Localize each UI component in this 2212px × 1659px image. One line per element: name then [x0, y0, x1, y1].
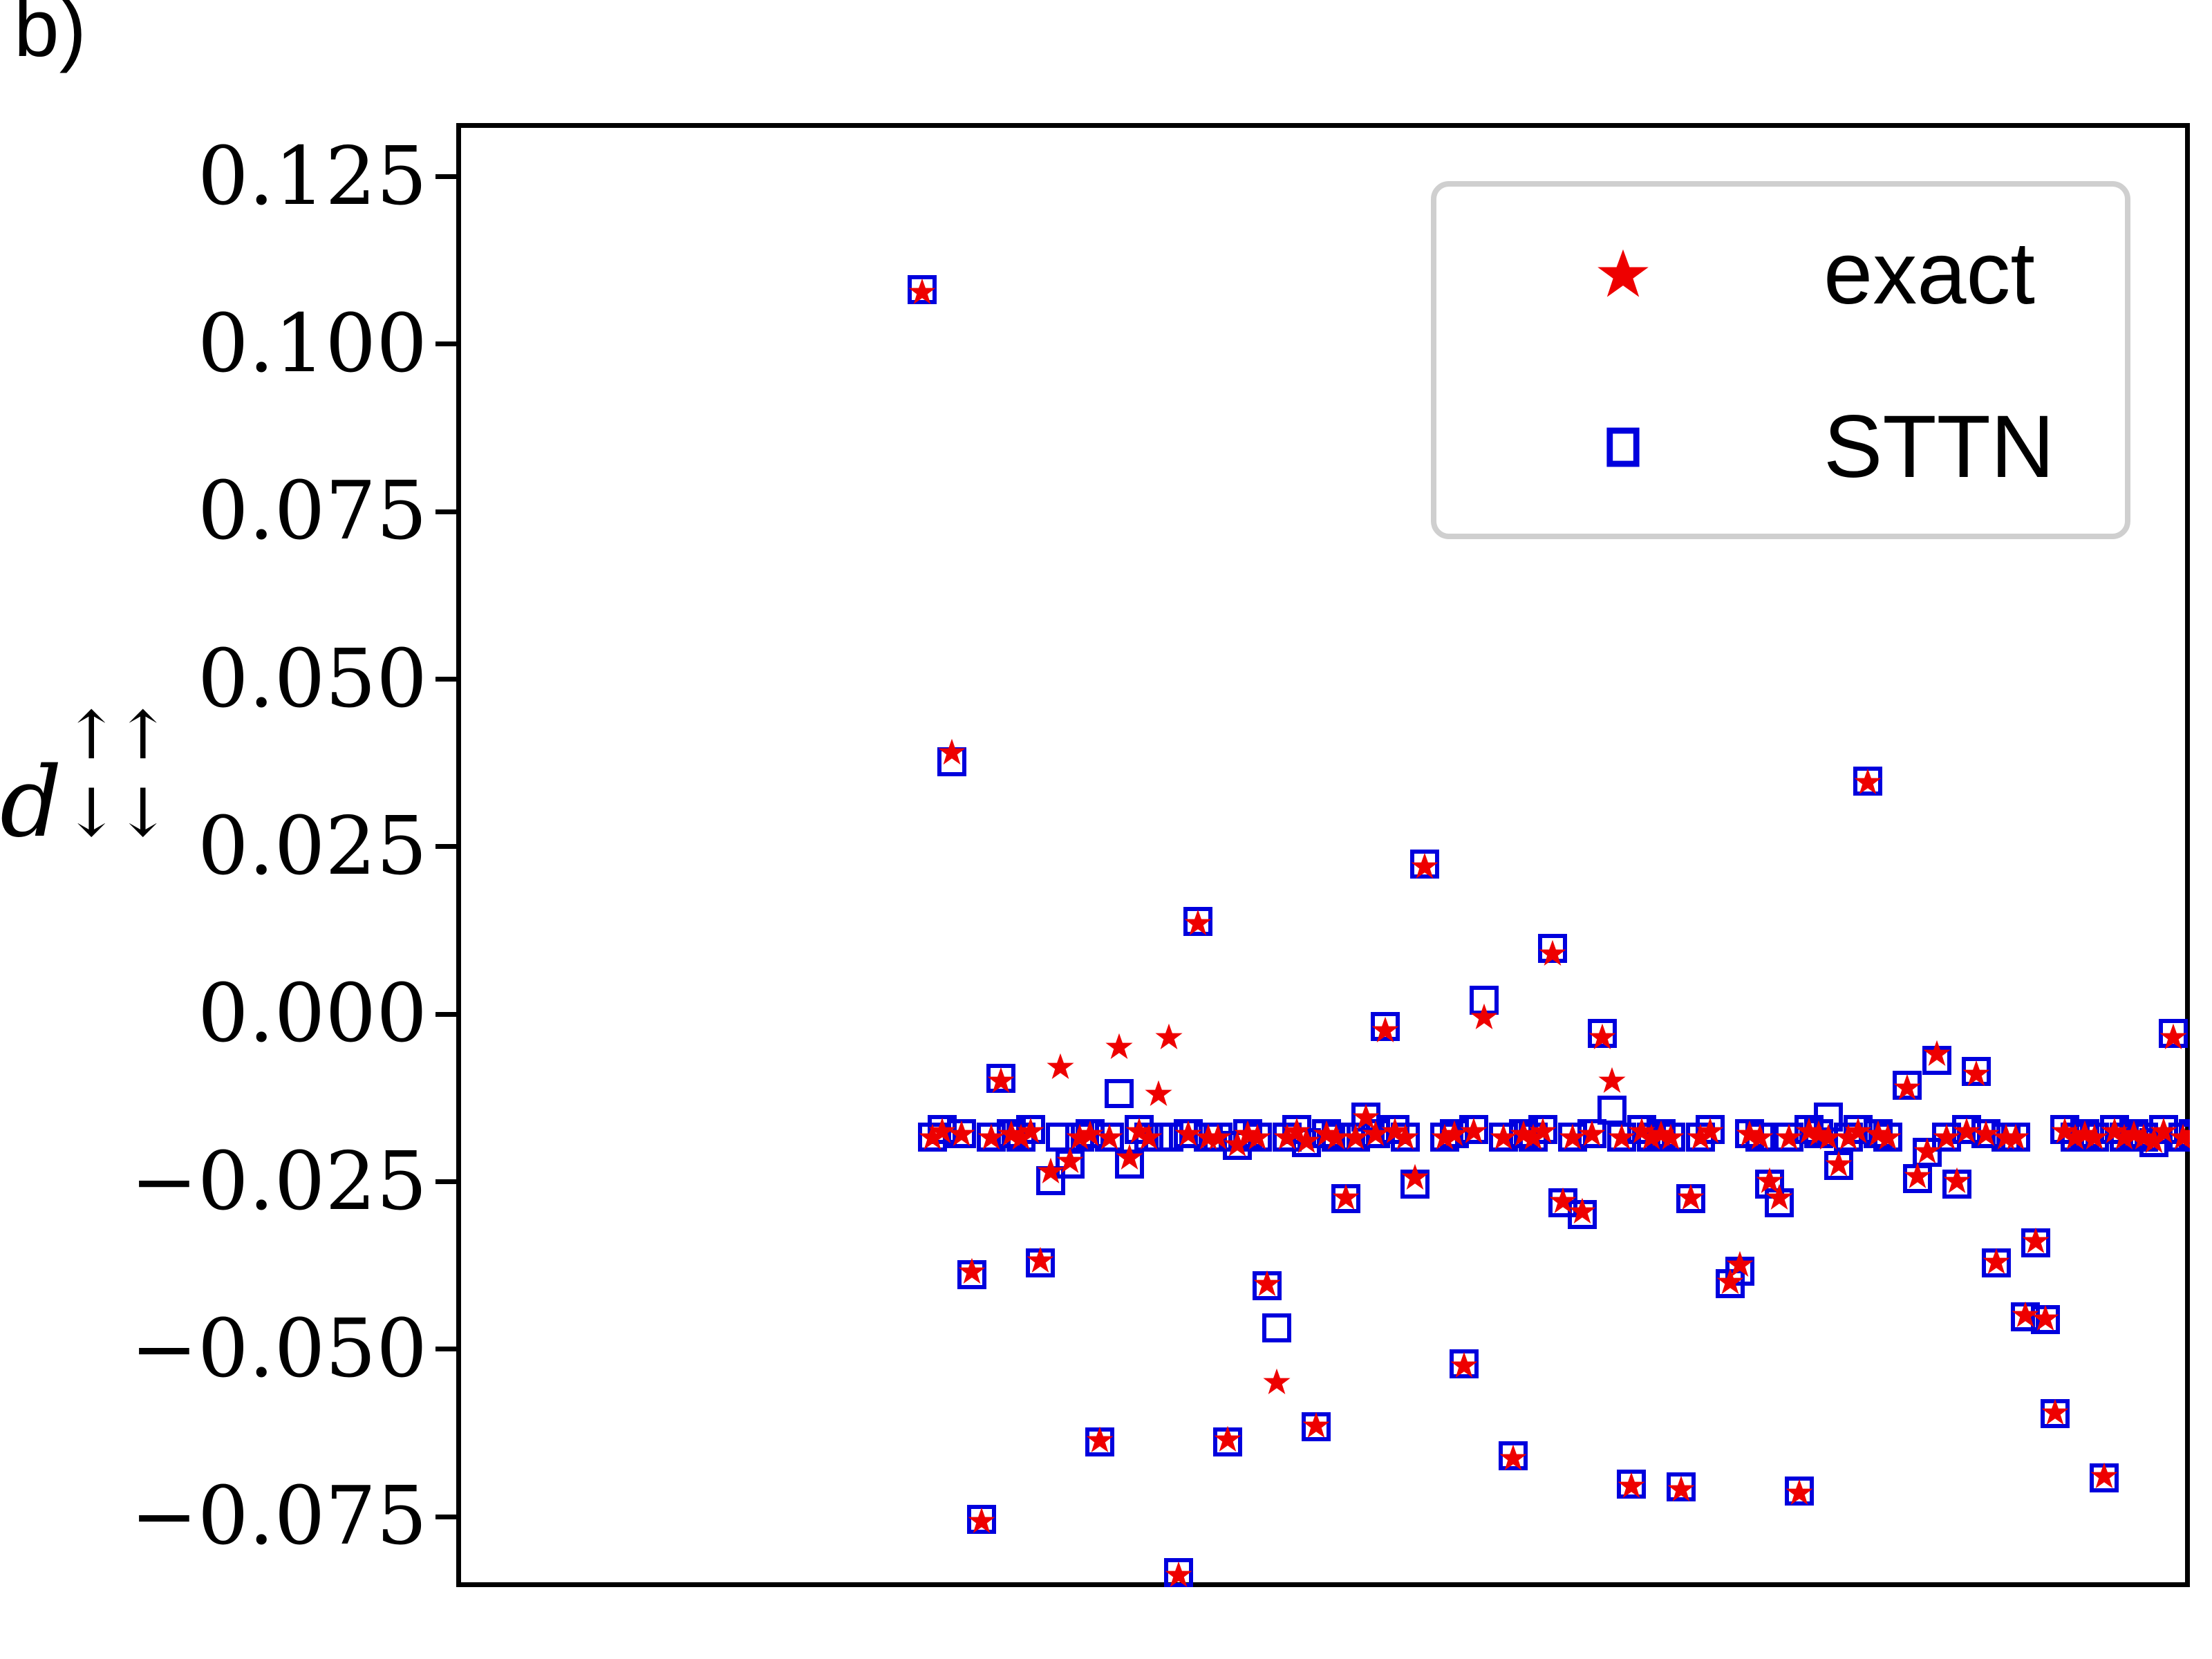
data-point-sttn: [1026, 1248, 1055, 1277]
data-point-sttn: [918, 1123, 947, 1152]
legend-label-sttn: STTN: [1824, 403, 2054, 491]
data-point-sttn: [1588, 1019, 1617, 1048]
data-point-sttn: [1144, 1123, 1173, 1152]
data-point-sttn: [1046, 1123, 1075, 1152]
legend-label-exact: exact: [1824, 229, 2035, 318]
data-point-exact: [1795, 1117, 1823, 1145]
data-point-sttn: [1085, 1427, 1114, 1456]
data-point-sttn: [1134, 1123, 1163, 1152]
data-point-sttn: [1725, 1257, 1754, 1286]
y-axis-label-subscript: ↓↓: [64, 780, 167, 846]
data-point-exact: [1224, 1130, 1251, 1158]
data-point-sttn: [1331, 1184, 1360, 1213]
data-point-exact: [1086, 1426, 1114, 1454]
data-point-sttn: [1903, 1164, 1932, 1193]
data-point-exact: [1499, 1444, 1527, 1472]
data-point-exact: [1588, 1023, 1616, 1051]
data-point-sttn: [1824, 1151, 1853, 1180]
data-point-sttn: [1538, 934, 1567, 963]
y-tick-mark: [435, 1012, 456, 1017]
data-point-sttn: [1962, 1057, 1991, 1086]
figure-panel-b: b) 0.1250.1000.0750.0500.0250.000−0.025−…: [0, 0, 2212, 1659]
data-point-exact: [1864, 1120, 1892, 1147]
data-point-exact: [1923, 1040, 1951, 1067]
data-point-sttn: [2129, 1123, 2158, 1152]
data-point-exact: [1401, 1163, 1429, 1191]
data-point-sttn: [1164, 1558, 1193, 1587]
data-point-sttn: [1922, 1046, 1951, 1075]
data-point-sttn: [1942, 1170, 1971, 1199]
data-point-exact: [1381, 1117, 1409, 1145]
data-point-sttn: [1804, 1119, 1833, 1148]
data-point-sttn: [1361, 1119, 1390, 1148]
data-point-exact: [1844, 1117, 1872, 1145]
data-point-exact: [2130, 1123, 2157, 1151]
data-point-exact: [1253, 1270, 1281, 1297]
data-point-exact: [1431, 1123, 1459, 1151]
data-point-sttn: [1233, 1119, 1262, 1148]
data-point-exact: [1657, 1123, 1685, 1151]
data-point-exact: [968, 1507, 995, 1535]
data-point-exact: [2159, 1023, 2187, 1051]
data-point-exact: [1647, 1120, 1675, 1147]
data-point-exact: [1362, 1120, 1389, 1147]
data-point-exact: [1145, 1080, 1172, 1107]
data-point-exact: [1736, 1120, 1763, 1147]
data-point-sttn: [1745, 1123, 1774, 1152]
data-point-sttn: [937, 747, 966, 776]
data-point-sttn: [1597, 1096, 1627, 1125]
y-tick-label: 0.100: [0, 304, 427, 384]
legend-entry-sttn[interactable]: STTN: [1436, 360, 2125, 534]
data-point-exact: [1904, 1162, 1931, 1190]
data-point-exact: [1293, 1127, 1320, 1154]
data-point-sttn: [1105, 1079, 1134, 1108]
data-point-sttn: [1470, 986, 1499, 1015]
data-point-sttn: [1765, 1188, 1794, 1217]
data-point-exact: [2120, 1120, 2148, 1147]
data-point-exact: [1983, 1248, 2010, 1275]
data-point-exact: [1047, 1053, 1074, 1080]
data-point-exact: [2150, 1117, 2177, 1145]
y-tick-mark: [435, 1347, 456, 1351]
data-point-exact: [1056, 1147, 1084, 1174]
data-point-exact: [1953, 1117, 1980, 1145]
data-point-sttn: [2070, 1119, 2099, 1148]
data-point-sttn: [1341, 1123, 1370, 1152]
y-axis-label-symbol: d: [0, 755, 62, 852]
data-point-sttn: [1380, 1115, 1409, 1144]
data-point-exact: [2180, 1120, 2191, 1147]
data-point-sttn: [1873, 1123, 1902, 1152]
data-point-exact: [987, 1067, 1015, 1094]
data-point-exact: [1155, 1023, 1183, 1051]
data-point-sttn: [1253, 1271, 1282, 1300]
data-point-exact: [1529, 1117, 1557, 1145]
data-point-sttn: [1273, 1123, 1302, 1152]
data-point-exact: [1992, 1123, 2020, 1151]
data-point-exact: [1490, 1123, 1517, 1151]
data-point-exact: [1096, 1123, 1123, 1151]
data-point-sttn: [986, 1064, 1015, 1093]
data-point-exact: [1628, 1117, 1656, 1145]
data-point-exact: [1598, 1067, 1626, 1094]
data-point-exact: [908, 278, 936, 306]
data-point-sttn: [1932, 1123, 1961, 1152]
data-point-exact: [1411, 852, 1438, 880]
y-tick-mark: [435, 509, 456, 514]
data-point-sttn: [1617, 1470, 1646, 1499]
data-point-sttn: [1834, 1123, 1863, 1152]
data-point-sttn: [1430, 1123, 1459, 1152]
data-point-sttn: [1853, 767, 1882, 796]
data-point-sttn: [1391, 1123, 1420, 1152]
data-point-sttn: [1351, 1103, 1380, 1132]
data-point-exact: [1244, 1123, 1271, 1151]
data-point-exact: [1283, 1117, 1311, 1145]
data-point-exact: [1204, 1123, 1232, 1151]
data-point-sttn: [1558, 1123, 1587, 1152]
data-point-exact: [919, 1123, 946, 1151]
data-point-sttn: [1844, 1115, 1873, 1144]
data-point-sttn: [2139, 1128, 2168, 1157]
star-icon: [1595, 246, 1651, 301]
data-point-sttn: [1893, 1071, 1922, 1100]
data-point-exact: [1076, 1120, 1104, 1147]
data-point-sttn: [1450, 1349, 1479, 1378]
data-point-sttn: [1174, 1119, 1203, 1148]
data-point-exact: [1066, 1123, 1094, 1151]
data-point-sttn: [1577, 1119, 1606, 1148]
y-tick-label: −0.050: [0, 1309, 427, 1389]
data-point-sttn: [1154, 1123, 1183, 1152]
legend: exact STTN: [1431, 181, 2130, 539]
data-point-exact: [1677, 1183, 1705, 1211]
data-point-exact: [2061, 1123, 2089, 1151]
y-tick-mark: [435, 341, 456, 346]
data-point-exact: [958, 1257, 986, 1285]
data-point-exact: [1441, 1120, 1468, 1147]
data-point-exact: [1116, 1143, 1143, 1171]
data-point-sttn: [2061, 1123, 2090, 1152]
data-point-sttn: [1292, 1128, 1321, 1157]
data-point-sttn: [1262, 1313, 1291, 1342]
data-point-sttn: [967, 1505, 996, 1534]
data-point-exact: [1165, 1561, 1192, 1587]
data-point-sttn: [2090, 1463, 2119, 1492]
data-point-sttn: [1794, 1115, 1824, 1144]
data-point-sttn: [1223, 1131, 1252, 1160]
y-axis-label-superscript: ↑↑: [64, 702, 167, 769]
data-point-exact: [1332, 1183, 1360, 1211]
data-point-sttn: [1971, 1119, 2000, 1148]
data-point-exact: [1391, 1123, 1419, 1151]
y-tick-label: −0.075: [0, 1477, 427, 1557]
data-point-sttn: [1183, 907, 1212, 936]
square-icon: [1595, 420, 1651, 475]
data-point-exact: [1578, 1120, 1606, 1147]
data-point-sttn: [1400, 1170, 1430, 1199]
data-point-sttn: [1607, 1123, 1636, 1152]
data-point-sttn: [2100, 1115, 2129, 1144]
y-tick-mark: [435, 677, 456, 682]
data-point-sttn: [1065, 1123, 1094, 1152]
y-tick-label: −0.025: [0, 1142, 427, 1222]
data-point-exact: [1608, 1123, 1635, 1151]
data-point-sttn: [1913, 1138, 1942, 1167]
data-point-exact: [1972, 1120, 2000, 1147]
data-point-exact: [977, 1123, 1005, 1151]
data-point-sttn: [1991, 1123, 2021, 1152]
data-point-exact: [2090, 1462, 2118, 1490]
data-point-exact: [2189, 1123, 2190, 1151]
data-point-sttn: [1410, 850, 1439, 879]
data-point-exact: [2169, 1123, 2190, 1151]
data-point-exact: [1874, 1123, 1902, 1151]
data-point-exact: [1687, 1123, 1714, 1151]
data-point-sttn: [1774, 1123, 1803, 1152]
data-point-exact: [1746, 1123, 1774, 1151]
data-point-sttn: [1785, 1477, 1814, 1506]
data-point-sttn: [1548, 1188, 1577, 1217]
data-point-sttn: [1440, 1119, 1469, 1148]
data-point-sttn: [2021, 1228, 2050, 1257]
data-point-sttn: [1016, 1115, 1045, 1144]
data-point-exact: [1962, 1060, 1990, 1087]
data-point-sttn: [2149, 1115, 2178, 1144]
data-point-exact: [2051, 1117, 2079, 1145]
panel-label: b): [14, 0, 86, 69]
data-point-exact: [1756, 1167, 1783, 1194]
data-point-sttn: [1509, 1119, 1538, 1148]
data-point-exact: [938, 738, 966, 766]
data-point-exact: [2032, 1304, 2059, 1332]
data-point-exact: [1371, 1016, 1399, 1044]
data-point-exact: [1667, 1475, 1695, 1503]
data-point-exact: [1194, 1123, 1222, 1151]
data-point-exact: [1510, 1120, 1537, 1147]
data-point-exact: [2041, 1398, 2069, 1426]
data-point-sttn: [1667, 1472, 1696, 1501]
data-point-exact: [1539, 939, 1566, 967]
data-point-sttn: [1647, 1119, 1676, 1148]
data-point-exact: [1313, 1120, 1340, 1147]
data-point-exact: [1007, 1123, 1035, 1151]
data-point-exact: [1460, 1117, 1488, 1145]
data-point-exact: [1470, 1003, 1498, 1031]
data-point-exact: [1815, 1123, 1842, 1151]
data-point-exact: [1549, 1187, 1577, 1215]
data-point-sttn: [1302, 1412, 1331, 1441]
data-point-sttn: [1519, 1123, 1548, 1152]
data-point-sttn: [1696, 1115, 1725, 1144]
data-point-exact: [1726, 1250, 1754, 1278]
data-point-exact: [1450, 1351, 1478, 1379]
data-point-sttn: [908, 275, 937, 304]
y-tick-label: 0.125: [0, 137, 427, 217]
data-point-exact: [2002, 1123, 2030, 1151]
data-point-exact: [2140, 1127, 2168, 1154]
data-point-exact: [1943, 1167, 1971, 1194]
data-point-exact: [1568, 1197, 1596, 1225]
data-point-sttn: [1076, 1119, 1105, 1148]
data-point-sttn: [1814, 1103, 1843, 1132]
data-point-exact: [1716, 1268, 1744, 1295]
data-point-sttn: [1952, 1115, 1981, 1144]
data-point-exact: [1519, 1123, 1547, 1151]
data-point-exact: [1037, 1157, 1065, 1185]
data-point-exact: [1184, 909, 1212, 937]
data-point-sttn: [2050, 1115, 2079, 1144]
data-point-exact: [2071, 1120, 2099, 1147]
data-point-sttn: [2179, 1119, 2191, 1148]
data-point-sttn: [1056, 1150, 1085, 1179]
data-point-exact: [1765, 1183, 1793, 1211]
data-point-exact: [1273, 1123, 1301, 1151]
data-point-exact: [2110, 1123, 2138, 1151]
y-tick-mark: [435, 844, 456, 849]
data-point-exact: [1893, 1074, 1921, 1101]
data-point-sttn: [928, 1115, 957, 1144]
data-point-exact: [1933, 1123, 1960, 1151]
data-point-sttn: [1194, 1123, 1223, 1152]
data-point-sttn: [2041, 1399, 2070, 1428]
data-point-exact: [1135, 1123, 1163, 1151]
data-point-sttn: [1213, 1427, 1242, 1456]
data-point-exact: [2022, 1227, 2050, 1255]
data-point-sttn: [1036, 1166, 1065, 1195]
data-point-exact: [1696, 1117, 1724, 1145]
data-point-sttn: [2119, 1119, 2148, 1148]
data-point-sttn: [1716, 1269, 1745, 1298]
data-point-exact: [1105, 1033, 1133, 1060]
data-point-sttn: [1656, 1123, 1685, 1152]
data-point-sttn: [2159, 1019, 2188, 1048]
data-point-sttn: [1676, 1184, 1705, 1213]
data-point-sttn: [1006, 1123, 1035, 1152]
data-point-sttn: [2110, 1123, 2139, 1152]
data-point-sttn: [947, 1119, 976, 1148]
data-point-sttn: [1203, 1123, 1232, 1152]
data-point-sttn: [1243, 1123, 1272, 1152]
data-point-exact: [1027, 1246, 1054, 1274]
legend-entry-exact[interactable]: exact: [1436, 187, 2125, 360]
y-tick-mark: [435, 1179, 456, 1184]
data-point-exact: [1638, 1123, 1665, 1151]
data-point-exact: [948, 1120, 975, 1147]
data-point-exact: [1854, 768, 1882, 796]
data-point-exact: [1618, 1472, 1645, 1499]
data-point-exact: [928, 1117, 956, 1145]
y-tick-label: 0.075: [0, 471, 427, 552]
data-point-sttn: [1095, 1123, 1124, 1152]
data-point-sttn: [1637, 1123, 1666, 1152]
data-point-sttn: [1489, 1123, 1518, 1152]
y-tick-mark: [435, 1515, 456, 1519]
data-point-sttn: [1755, 1170, 1784, 1199]
data-point-sttn: [1864, 1119, 1893, 1148]
data-point-sttn: [1312, 1119, 1341, 1148]
data-point-sttn: [2168, 1123, 2190, 1152]
data-point-sttn: [1627, 1115, 1656, 1144]
y-axis-label: d ↑↑ ↓↓: [0, 691, 135, 871]
data-point-sttn: [1499, 1441, 1528, 1470]
data-point-exact: [1342, 1123, 1369, 1151]
data-point-exact: [1234, 1120, 1262, 1147]
data-point-exact: [1263, 1368, 1291, 1396]
y-tick-mark: [435, 174, 456, 179]
data-point-exact: [1805, 1120, 1833, 1147]
data-point-sttn: [1528, 1115, 1557, 1144]
data-point-sttn: [1322, 1123, 1351, 1152]
data-point-sttn: [1282, 1115, 1311, 1144]
data-point-exact: [1174, 1120, 1202, 1147]
data-point-exact: [1835, 1123, 1862, 1151]
data-point-exact: [2012, 1301, 2039, 1329]
data-point-exact: [997, 1120, 1025, 1147]
data-point-exact: [1352, 1103, 1380, 1131]
data-point-sttn: [1459, 1115, 1488, 1144]
data-point-sttn: [997, 1119, 1026, 1148]
data-point-exact: [1125, 1117, 1153, 1145]
data-point-sttn: [2080, 1123, 2109, 1152]
data-point-sttn: [2031, 1305, 2060, 1334]
data-point-sttn: [1568, 1200, 1597, 1229]
y-tick-label: 0.000: [0, 974, 427, 1054]
data-point-sttn: [1115, 1150, 1144, 1179]
data-point-sttn: [1735, 1119, 1764, 1148]
data-point-sttn: [1125, 1115, 1154, 1144]
data-point-exact: [1559, 1123, 1586, 1151]
data-point-exact: [1322, 1123, 1350, 1151]
data-point-sttn: [2188, 1123, 2190, 1152]
data-point-exact: [1214, 1425, 1241, 1453]
data-point-sttn: [2011, 1302, 2040, 1331]
data-point-sttn: [1686, 1123, 1715, 1152]
data-point-exact: [1825, 1150, 1853, 1178]
data-point-sttn: [1371, 1012, 1400, 1041]
data-point-sttn: [977, 1123, 1006, 1152]
data-point-exact: [1302, 1412, 1330, 1439]
data-point-exact: [1913, 1137, 1941, 1165]
data-point-exact: [2081, 1123, 2108, 1151]
data-point-sttn: [1982, 1248, 2011, 1277]
data-point-exact: [2101, 1117, 2128, 1145]
data-point-exact: [1775, 1123, 1803, 1151]
data-point-sttn: [2001, 1123, 2030, 1152]
data-point-exact: [1785, 1479, 1813, 1506]
data-point-exact: [1017, 1117, 1044, 1145]
data-point-sttn: [957, 1260, 986, 1289]
